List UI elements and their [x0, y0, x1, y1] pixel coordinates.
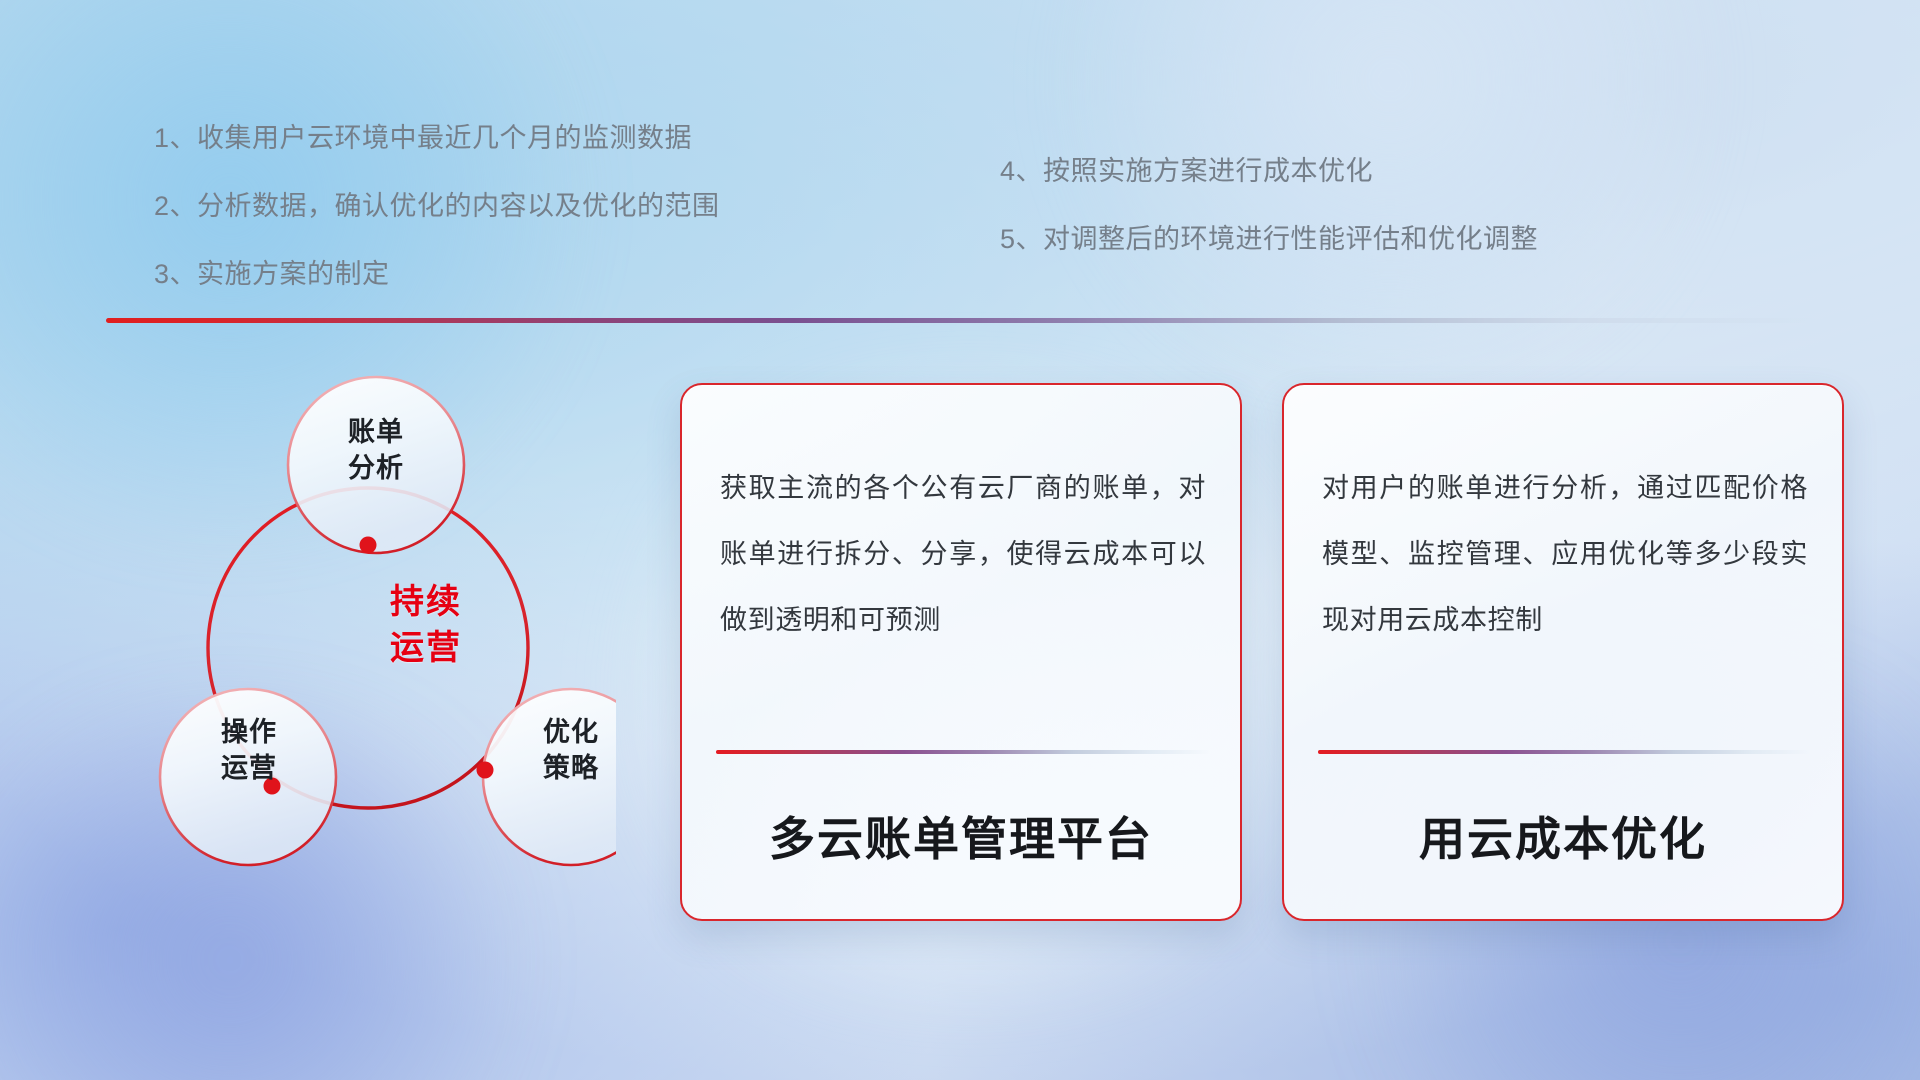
card-cloud-cost-optimization[interactable]: 对用户的账单进行分析，通过匹配价格模型、监控管理、应用优化等多少段实现对用云成本… [1282, 383, 1844, 921]
step-item-3: 3、实施方案的制定 [154, 261, 720, 288]
step-item-5: 5、对调整后的环境进行性能评估和优化调整 [1000, 226, 1538, 253]
steps-list-right: 4、按照实施方案进行成本优化 5、对调整后的环境进行性能评估和优化调整 [1000, 158, 1538, 294]
venn-node-top [360, 537, 377, 554]
venn-diagram: 账单 分析 操作 运营 优化 策略 持续 运营 [96, 340, 616, 940]
card-title: 多云账单管理平台 [682, 803, 1240, 869]
section-divider [106, 318, 1822, 323]
card-accent-rule [1318, 750, 1812, 754]
venn-label-center: 持续 运营 [336, 580, 516, 671]
card-body-text: 获取主流的各个公有云厂商的账单，对账单进行拆分、分享，使得云成本可以做到透明和可… [720, 455, 1206, 653]
steps-list-left: 1、收集用户云环境中最近几个月的监测数据 2、分析数据，确认优化的内容以及优化的… [154, 125, 720, 329]
card-body-text: 对用户的账单进行分析，通过匹配价格模型、监控管理、应用优化等多少段实现对用云成本… [1322, 455, 1808, 653]
venn-node-bottom-right [477, 762, 494, 779]
card-multi-cloud-billing-platform[interactable]: 获取主流的各个公有云厂商的账单，对账单进行拆分、分享，使得云成本可以做到透明和可… [680, 383, 1242, 921]
venn-label-bill-analysis: 账单 分析 [311, 415, 441, 486]
venn-label-operation-ops: 操作 运营 [184, 715, 314, 786]
card-accent-rule [716, 750, 1210, 754]
step-item-2: 2、分析数据，确认优化的内容以及优化的范围 [154, 193, 720, 220]
step-item-1: 1、收集用户云环境中最近几个月的监测数据 [154, 125, 720, 152]
card-title: 用云成本优化 [1284, 803, 1842, 869]
step-item-4: 4、按照实施方案进行成本优化 [1000, 158, 1538, 185]
slide-canvas: 1、收集用户云环境中最近几个月的监测数据 2、分析数据，确认优化的内容以及优化的… [0, 0, 1920, 1080]
venn-label-optimize-strategy: 优化 策略 [506, 715, 636, 786]
